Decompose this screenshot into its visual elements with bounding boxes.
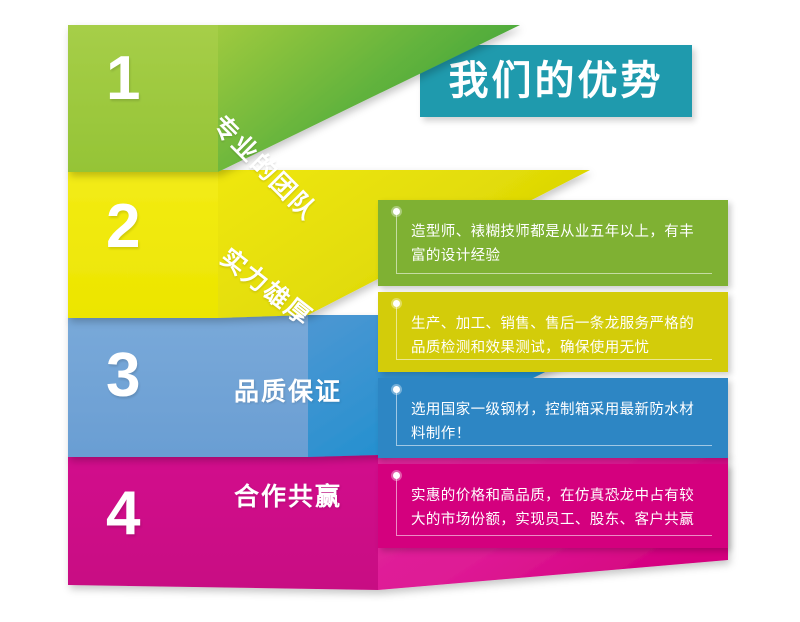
info-text-4: 实惠的价格和高品质，在仿真恐龙中占有较大的市场份额，实现员工、股东、客户共赢 bbox=[411, 485, 706, 533]
bullet-dot-icon bbox=[393, 386, 400, 393]
panel-bracket-4: 实惠的价格和高品质，在仿真恐龙中占有较大的市场份额，实现员工、股东、客户共赢 bbox=[396, 476, 712, 536]
bullet-dot-icon bbox=[393, 300, 400, 307]
bullet-dot-icon bbox=[393, 472, 400, 479]
bullet-dot-icon bbox=[393, 208, 400, 215]
info-panel-4[interactable]: 实惠的价格和高品质，在仿真恐龙中占有较大的市场份额，实现员工、股东、客户共赢 bbox=[378, 464, 728, 548]
info-panel-2[interactable]: 生产、加工、销售、售后一条龙服务严格的品质检测和效果测试，确保使用无忧 bbox=[378, 292, 728, 372]
info-panel-3[interactable]: 选用国家一级钢材，控制箱采用最新防水材料制作！ bbox=[378, 378, 728, 458]
panel-bracket-2: 生产、加工、销售、售后一条龙服务严格的品质检测和效果测试，确保使用无忧 bbox=[396, 304, 712, 360]
infographic-canvas: 我们的优势 bbox=[0, 0, 800, 622]
step-shape-1[interactable] bbox=[68, 25, 520, 172]
panel-bracket-3: 选用国家一级钢材，控制箱采用最新防水材料制作！ bbox=[396, 390, 712, 446]
info-text-3: 选用国家一级钢材，控制箱采用最新防水材料制作！ bbox=[411, 399, 706, 447]
info-panel-1[interactable]: 造型师、裱糊技师都是从业五年以上，有丰富的设计经验 bbox=[378, 200, 728, 286]
info-text-1: 造型师、裱糊技师都是从业五年以上，有丰富的设计经验 bbox=[411, 221, 706, 269]
info-text-2: 生产、加工、销售、售后一条龙服务严格的品质检测和效果测试，确保使用无忧 bbox=[411, 313, 706, 361]
panel-bracket-1: 造型师、裱糊技师都是从业五年以上，有丰富的设计经验 bbox=[396, 212, 712, 274]
